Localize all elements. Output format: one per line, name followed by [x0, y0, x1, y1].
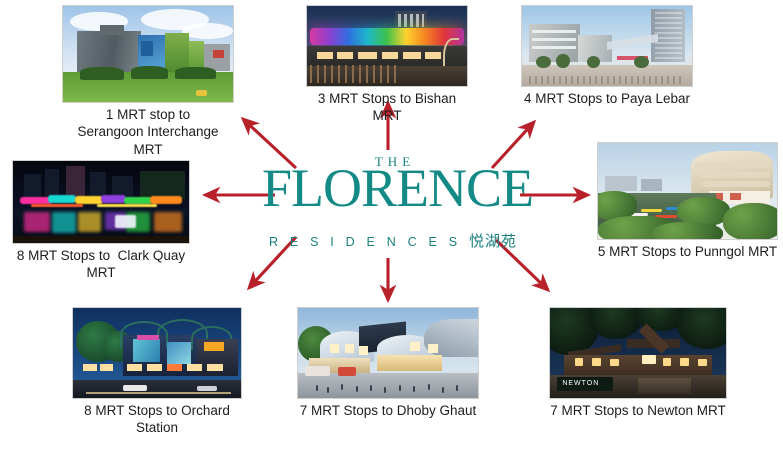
photo-newton-food-centre[interactable]: NEWTON	[549, 307, 727, 399]
logo-florence-text: FLORENCE	[262, 160, 524, 217]
node-punggol[interactable]: 5 MRT Stops to Punngol MRT	[597, 142, 778, 260]
photo-punggol-waterway-point[interactable]	[597, 142, 778, 240]
logo-residences-en: R E S I D E N C E S	[269, 235, 461, 249]
caption-newton: 7 MRT Stops to Newton MRT	[549, 402, 727, 419]
caption-paya-lebar: 4 MRT Stops to Paya Lebar	[521, 90, 693, 107]
photo-dhoby-ghaut-mall[interactable]	[297, 307, 479, 399]
caption-bishan: 3 MRT Stops to Bishan MRT	[306, 90, 468, 125]
caption-dhoby-ghaut: 7 MRT Stops to Dhoby Ghaut	[297, 402, 479, 419]
photo-paya-lebar-quarter[interactable]	[521, 5, 693, 87]
node-orchard[interactable]: 8 MRT Stops to Orchard Station	[72, 307, 242, 437]
caption-orchard: 8 MRT Stops to Orchard Station	[72, 402, 242, 437]
newton-sign-text: NEWTON	[562, 380, 599, 387]
photo-orchard-ion[interactable]	[72, 307, 242, 399]
node-clarke-quay[interactable]: 8 MRT Stops to Clark Quay MRT	[12, 160, 190, 282]
node-serangoon[interactable]: 1 MRT stop toSerangoon Interchange MRT	[62, 5, 234, 158]
node-dhoby-ghaut[interactable]: 7 MRT Stops to Dhoby Ghaut	[297, 307, 479, 419]
node-paya-lebar[interactable]: 4 MRT Stops to Paya Lebar	[521, 5, 693, 107]
photo-clarke-quay[interactable]	[12, 160, 190, 244]
caption-serangoon: 1 MRT stop toSerangoon Interchange MRT	[62, 106, 234, 158]
florence-residences-logo: THE FLORENCE R E S I D E N C E S 悦湖苑	[262, 148, 524, 260]
logo-residences-text: R E S I D E N C E S 悦湖苑	[262, 230, 524, 251]
caption-clarke-quay: 8 MRT Stops to Clark Quay MRT	[12, 247, 190, 282]
photo-serangoon-nex[interactable]	[62, 5, 234, 103]
node-bishan[interactable]: 3 MRT Stops to Bishan MRT	[306, 5, 468, 125]
photo-bishan-junction8[interactable]	[306, 5, 468, 87]
connectivity-diagram: THE FLORENCE R E S I D E N C E S 悦湖苑	[0, 0, 783, 452]
node-newton[interactable]: NEWTON 7 MRT Stops to Newton MRT	[549, 307, 727, 419]
caption-punggol: 5 MRT Stops to Punngol MRT	[597, 243, 778, 260]
logo-residences-cn: 悦湖苑	[469, 233, 517, 250]
